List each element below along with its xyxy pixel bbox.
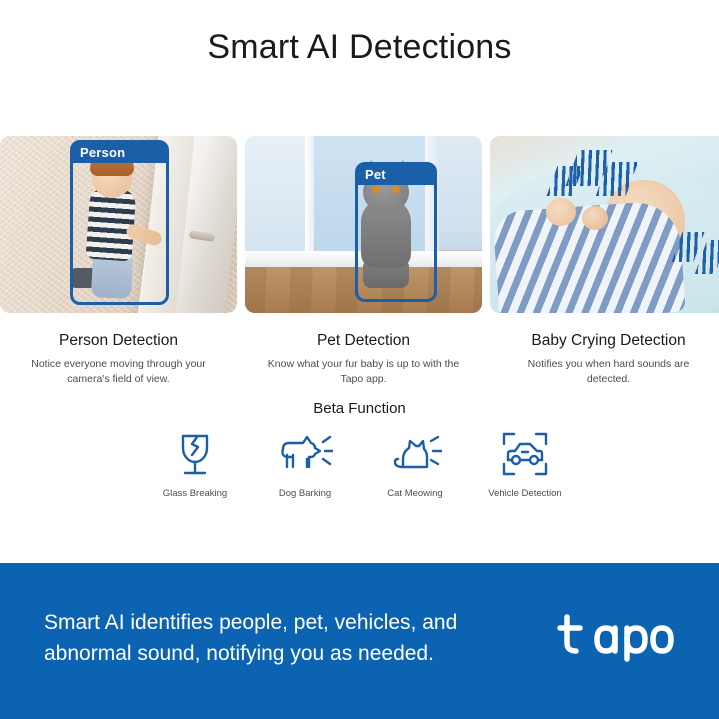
- dog-barking-icon: [250, 428, 360, 480]
- beta-item-dog-barking[interactable]: Dog Barking: [250, 428, 360, 499]
- card-title: Pet Detection: [245, 332, 482, 350]
- detection-bounding-box-pet: Pet: [355, 162, 437, 302]
- baby-hand-left: [546, 198, 576, 226]
- beta-item-label: Dog Barking: [250, 488, 360, 499]
- footer-tagline: Smart AI identifies people, pet, vehicle…: [44, 607, 514, 669]
- detection-cards-row: Person Person Detection Notice everyone …: [0, 136, 719, 387]
- card-title: Baby Crying Detection: [490, 332, 719, 350]
- beta-item-cat-meowing[interactable]: Cat Meowing: [360, 428, 470, 499]
- card-baby-image: [490, 136, 719, 313]
- card-person-detection: Person Person Detection Notice everyone …: [0, 136, 237, 387]
- footer-tagline-line1: Smart AI identifies people, pet, vehicle…: [44, 607, 514, 638]
- card-title: Person Detection: [0, 332, 237, 350]
- beta-item-label: Glass Breaking: [140, 488, 250, 499]
- detection-bounding-box-person: Person: [70, 140, 169, 305]
- detection-label-pet: Pet: [357, 164, 435, 185]
- baby-hand-right: [582, 206, 608, 230]
- beta-item-label: Cat Meowing: [360, 488, 470, 499]
- card-baby-crying-detection: Baby Crying Detection Notifies you when …: [490, 136, 719, 387]
- crying-baby-photo: [490, 136, 719, 313]
- card-pet-image: Pet: [245, 136, 482, 313]
- footer-banner: Smart AI identifies people, pet, vehicle…: [0, 563, 719, 719]
- footer-tagline-line2: abnormal sound, notifying you as needed.: [44, 638, 514, 669]
- beta-function-row: Glass Breaking Dog Barking Cat Meowing: [140, 428, 580, 499]
- card-description: Notifies you when hard sounds are detect…: [490, 357, 719, 387]
- card-pet-detection: Pet Pet Detection Know what your fur bab…: [245, 136, 482, 387]
- beta-function-title: Beta Function: [0, 400, 719, 417]
- card-description: Notice everyone moving through your came…: [0, 357, 237, 387]
- beta-item-glass-breaking[interactable]: Glass Breaking: [140, 428, 250, 499]
- beta-item-vehicle-detection[interactable]: Vehicle Detection: [470, 428, 580, 499]
- vehicle-detection-icon: [470, 428, 580, 480]
- card-person-image: Person: [0, 136, 237, 313]
- detection-label-person: Person: [72, 142, 167, 163]
- page-title: Smart AI Detections: [0, 28, 719, 67]
- tapo-logo: [557, 611, 677, 663]
- cat-meowing-icon: [360, 428, 470, 480]
- beta-item-label: Vehicle Detection: [470, 488, 580, 499]
- broken-glass-icon: [140, 428, 250, 480]
- card-description: Know what your fur baby is up to with th…: [245, 357, 482, 387]
